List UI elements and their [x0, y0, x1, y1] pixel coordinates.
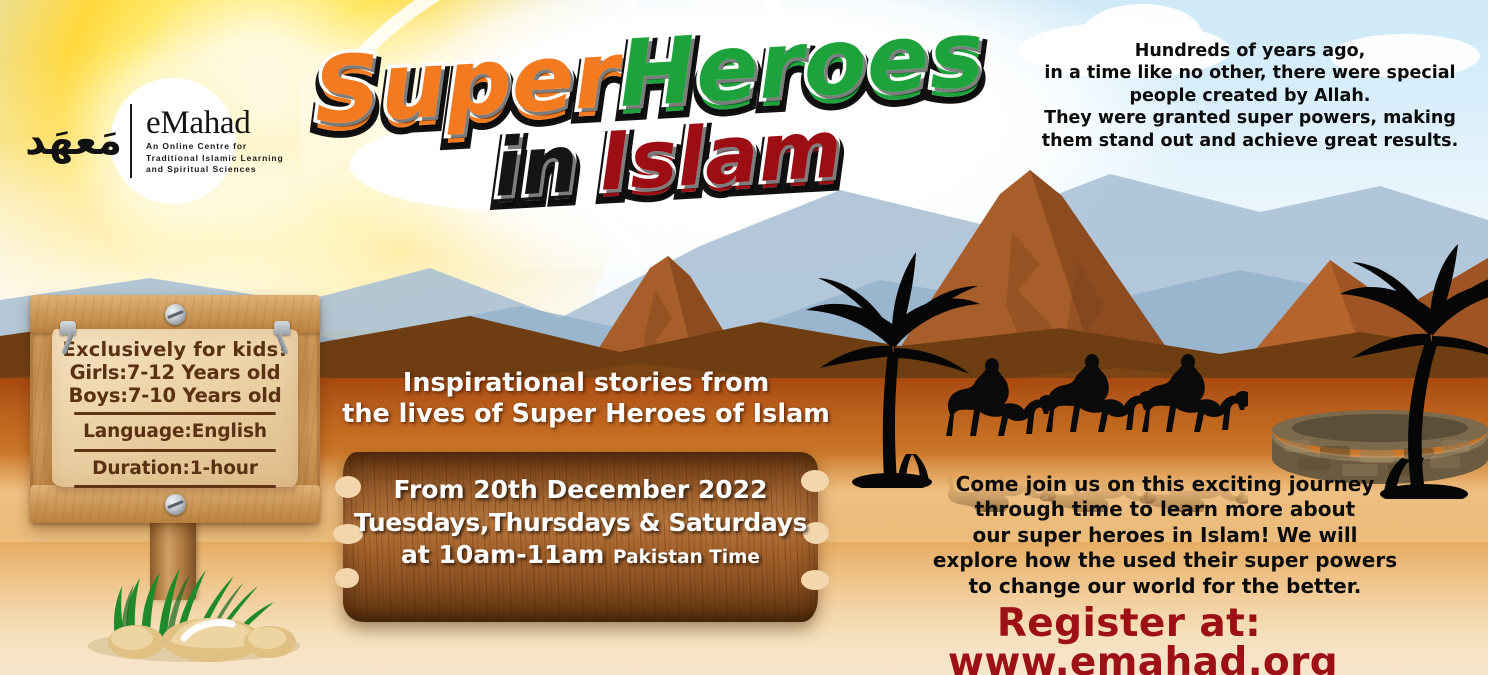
- screw-icon: [165, 494, 186, 515]
- body-paragraph: Come join us on this exciting journey th…: [930, 472, 1400, 599]
- body-line: Come join us on this exciting journey: [930, 472, 1400, 497]
- logo[interactable]: مَعهَد eMahad An Online Centre for Tradi…: [44, 86, 294, 196]
- sign-parchment: Exclusively for kids! Girls:7-12 Years o…: [52, 329, 298, 487]
- nail-icon: [274, 321, 290, 335]
- sign-line-language: Language:English: [60, 420, 290, 443]
- schedule-text: From 20th December 2022 Tuesdays,Thursda…: [343, 474, 818, 572]
- register-url[interactable]: www.emahad.org: [948, 640, 1338, 675]
- body-line: our super heroes in Islam! We will: [930, 523, 1400, 548]
- sign-line-duration: Duration:1-hour: [60, 457, 290, 480]
- plank-notch: [801, 570, 829, 590]
- sign-line-girls: Girls:7-12 Years old: [60, 362, 290, 385]
- intro-line: They were granted super powers, making: [1020, 107, 1480, 129]
- page-title: SuperHeroes inIslam: [320, 36, 960, 246]
- tagline-line: Inspirational stories from: [330, 368, 842, 399]
- body-line: to change our world for the better.: [930, 574, 1400, 599]
- body-line: explore how the used their super powers: [930, 548, 1400, 573]
- sign-line-boys: Boys:7-10 Years old: [60, 385, 290, 408]
- title-word-islam: Islam: [598, 109, 845, 215]
- body-line: through time to learn more about: [930, 497, 1400, 522]
- logo-tagline-line: An Online Centre for: [146, 141, 284, 152]
- intro-line: Hundreds of years ago,: [1020, 40, 1480, 62]
- poster-banner: مَعهَد eMahad An Online Centre for Tradi…: [0, 0, 1488, 675]
- palm-tree-icon: [1330, 244, 1488, 499]
- sign-divider: [74, 485, 276, 488]
- schedule-start-date: From 20th December 2022: [343, 474, 818, 507]
- info-sign: Exclusively for kids! Girls:7-12 Years o…: [30, 295, 320, 523]
- logo-tagline-line: and Spiritual Sciences: [146, 164, 284, 175]
- grass-and-rocks: [62, 520, 327, 670]
- logo-arabic-mark: مَعهَد: [44, 102, 122, 180]
- intro-line: them stand out and achieve great results…: [1020, 130, 1480, 152]
- intro-line: in a time like no other, there were spec…: [1020, 62, 1480, 84]
- logo-tagline: An Online Centre for Traditional Islamic…: [146, 141, 284, 175]
- tagline: Inspirational stories from the lives of …: [330, 368, 842, 430]
- sign-divider: [74, 449, 276, 452]
- intro-paragraph: Hundreds of years ago, in a time like no…: [1020, 40, 1480, 152]
- schedule-days: Tuesdays,Thursdays & Saturdays: [343, 507, 818, 540]
- screw-icon: [165, 304, 186, 325]
- tagline-line: the lives of Super Heroes of Islam: [330, 399, 842, 430]
- nail-icon: [60, 321, 76, 335]
- schedule-timezone: Pakistan Time: [613, 547, 760, 568]
- sign-divider: [74, 412, 276, 415]
- sign-line-audience: Exclusively for kids!: [60, 339, 290, 362]
- logo-tagline-line: Traditional Islamic Learning: [146, 153, 284, 164]
- logo-divider: [130, 104, 132, 178]
- schedule-time-value: at 10am-11am: [401, 540, 604, 569]
- schedule-plank: From 20th December 2022 Tuesdays,Thursda…: [343, 452, 818, 622]
- schedule-time: at 10am-11am Pakistan Time: [343, 539, 818, 572]
- register-cta[interactable]: Register at: www.emahad.org: [828, 604, 1458, 675]
- title-word-in: in: [491, 124, 580, 222]
- logo-name: eMahad: [146, 107, 284, 139]
- intro-line: people created by Allah.: [1020, 85, 1480, 107]
